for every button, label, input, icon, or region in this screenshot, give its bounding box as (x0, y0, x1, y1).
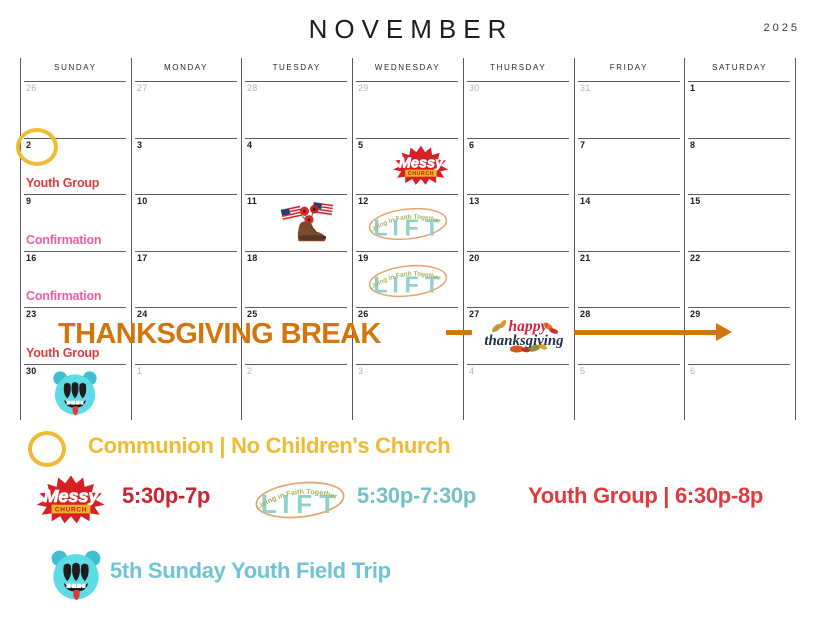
calendar-day-cell[interactable]: 1 (131, 364, 242, 421)
day-cell-divider (356, 194, 458, 195)
lift-logo-icon: LI FT Living in Faith Together (364, 261, 452, 301)
grid-line-vertical (795, 58, 796, 420)
day-number: 21 (580, 253, 591, 263)
day-number: 18 (247, 253, 258, 263)
day-cell-divider (578, 81, 680, 82)
day-cell-divider (24, 251, 126, 252)
day-cell-divider (135, 307, 237, 308)
calendar-day-cell[interactable]: 27 (131, 81, 242, 138)
day-cell-divider (578, 138, 680, 139)
day-number: 26 (26, 83, 37, 93)
day-cell-divider (135, 364, 237, 365)
day-cell-divider (688, 81, 790, 82)
calendar-day-cell[interactable]: 20 (463, 251, 574, 308)
day-number: 1 (690, 83, 695, 93)
day-cell-divider (24, 194, 126, 195)
day-cell-divider (245, 251, 347, 252)
day-cell-divider (688, 364, 790, 365)
calendar-grid: SUNDAYMONDAYTUESDAYWEDNESDAYTHURSDAYFRID… (20, 58, 795, 420)
calendar-day-cell[interactable]: 18 (241, 251, 352, 308)
day-cell-divider (245, 364, 347, 365)
day-number: 1 (137, 366, 142, 376)
youth-mascot-logo (50, 369, 100, 422)
legend-messy-church-time: 5:30p-7p (122, 483, 210, 509)
day-of-week-monday: MONDAY (131, 58, 242, 81)
day-cell-divider (24, 364, 126, 365)
calendar-day-cell[interactable]: 13 (463, 194, 574, 251)
day-number: 23 (26, 309, 37, 319)
day-cell-divider (135, 138, 237, 139)
day-cell-divider (24, 307, 126, 308)
day-cell-divider (135, 81, 237, 82)
thanksgiving-break-banner: THANKSGIVING BREAK (58, 318, 381, 351)
event-label[interactable]: Confirmation (26, 233, 101, 247)
calendar-day-cell[interactable]: 4 (241, 138, 352, 195)
day-cell-divider (688, 194, 790, 195)
lift-logo-icon: LI FT Living in Faith Together (364, 204, 452, 244)
calendar-day-cell[interactable]: 30 (463, 81, 574, 138)
legend-lift-logo: LI FT Living in Faith Together (250, 477, 350, 528)
calendar-day-cell[interactable]: 22 (684, 251, 795, 308)
day-number: 28 (580, 309, 591, 319)
calendar-day-cell[interactable]: 6 (684, 364, 795, 421)
day-cell-divider (245, 81, 347, 82)
day-number: 31 (580, 83, 591, 93)
year-label: 2025 (764, 22, 800, 34)
calendar-day-cell[interactable]: 10 (131, 194, 242, 251)
day-number: 8 (690, 140, 695, 150)
calendar-day-cell[interactable]: 7 (574, 138, 685, 195)
day-cell-divider (245, 194, 347, 195)
day-cell-divider (467, 251, 569, 252)
calendar-day-cell[interactable]: 9Confirmation (20, 194, 131, 251)
day-number: 13 (469, 196, 480, 206)
day-number: 27 (469, 309, 480, 319)
day-cell-divider (356, 364, 458, 365)
legend-lift-time: 5:30p-7:30p (357, 483, 476, 509)
svg-text:Messy: Messy (44, 486, 100, 506)
day-number: 30 (26, 366, 37, 376)
day-cell-divider (467, 307, 569, 308)
legend-youth-mascot (48, 548, 104, 607)
day-number: 2 (247, 366, 252, 376)
day-number: 15 (690, 196, 701, 206)
day-number: 22 (690, 253, 701, 263)
legend-communion-label: Communion | No Children's Church (88, 433, 450, 459)
calendar-day-cell[interactable]: 21 (574, 251, 685, 308)
calendar-day-cell[interactable]: 2 (241, 364, 352, 421)
day-of-week-sunday: SUNDAY (20, 58, 131, 81)
day-cell-divider (356, 307, 458, 308)
day-cell-divider (356, 138, 458, 139)
day-number: 20 (469, 253, 480, 263)
day-number: 5 (358, 140, 363, 150)
day-number: 6 (690, 366, 695, 376)
highlight-circle-day-2 (16, 128, 58, 166)
youth-mascot-icon (50, 369, 100, 417)
svg-text:thanksgiving: thanksgiving (484, 333, 564, 349)
day-of-week-friday: FRIDAY (574, 58, 685, 81)
day-number: 30 (469, 83, 480, 93)
calendar-day-cell[interactable]: 12 LI FT Living in Faith Together (352, 194, 463, 251)
day-cell-divider (578, 307, 680, 308)
youth-mascot-icon (48, 548, 104, 602)
calendar-day-cell[interactable]: 19 LI FT Living in Faith Together (352, 251, 463, 308)
day-of-week-saturday: SATURDAY (684, 58, 795, 81)
day-number: 28 (247, 83, 258, 93)
day-number: 29 (690, 309, 701, 319)
calendar-day-cell[interactable]: 3 (352, 364, 463, 421)
calendar-day-cell[interactable]: 5 (574, 364, 685, 421)
day-cell-divider (135, 194, 237, 195)
legend-messy-church-logo: Messy CHURCH (28, 472, 114, 531)
calendar-day-cell[interactable]: 17 (131, 251, 242, 308)
calendar-day-cell[interactable]: 31 (574, 81, 685, 138)
calendar-day-cell[interactable]: 1 (684, 81, 795, 138)
veterans-day-boot (279, 199, 339, 248)
day-cell-divider (24, 81, 126, 82)
thanksgiving-arrow-segment-right (574, 330, 722, 335)
day-of-week-tuesday: TUESDAY (241, 58, 352, 81)
day-number: 7 (580, 140, 585, 150)
event-label[interactable]: Youth Group (26, 176, 99, 190)
calendar-day-cell[interactable]: 11 (241, 194, 352, 251)
day-number: 9 (26, 196, 31, 206)
calendar-day-cell[interactable]: 16Confirmation (20, 251, 131, 308)
calendar-day-cell[interactable]: 4 (463, 364, 574, 421)
event-label[interactable]: Confirmation (26, 289, 101, 303)
day-number: 11 (247, 196, 257, 206)
thanksgiving-arrow-segment-left (446, 330, 472, 335)
calendar-day-cell[interactable]: 28 (574, 307, 685, 364)
day-number: 4 (469, 366, 474, 376)
day-number: 14 (580, 196, 591, 206)
day-cell-divider (578, 194, 680, 195)
day-of-week-header-row: SUNDAYMONDAYTUESDAYWEDNESDAYTHURSDAYFRID… (20, 58, 795, 81)
day-cell-divider (356, 251, 458, 252)
day-number: 4 (247, 140, 252, 150)
day-number: 5 (580, 366, 585, 376)
calendar-day-cell[interactable]: 14 (574, 194, 685, 251)
day-number: 3 (137, 140, 142, 150)
day-cell-divider (578, 364, 680, 365)
messy-church-logo-icon: Messy CHURCH (386, 143, 456, 187)
day-number: 3 (358, 366, 363, 376)
thanksgiving-arrow-head-icon (716, 323, 732, 341)
calendar-day-cell[interactable]: 29 (684, 307, 795, 364)
calendar-day-cell[interactable]: 3 (131, 138, 242, 195)
day-number: 17 (137, 253, 148, 263)
svg-text:Messy: Messy (399, 155, 444, 171)
day-cell-divider (578, 251, 680, 252)
svg-text:CHURCH: CHURCH (408, 171, 434, 177)
day-cell-divider (467, 364, 569, 365)
happy-thanksgiving-logo-icon: happy thanksgiving (481, 314, 567, 356)
legend-field-trip-label: 5th Sunday Youth Field Trip (110, 558, 391, 584)
page-title: NOVEMBER (0, 14, 822, 45)
calendar-day-cell[interactable]: 28 (241, 81, 352, 138)
messy-church-logo-icon: Messy CHURCH (28, 472, 114, 526)
day-number: 16 (26, 253, 37, 263)
lift-logo: LI FT Living in Faith Together (364, 261, 452, 306)
day-cell-divider (467, 81, 569, 82)
day-cell-divider (688, 251, 790, 252)
legend-youth-group-label: Youth Group | 6:30p-8p (528, 483, 763, 509)
day-cell-divider (467, 194, 569, 195)
lift-logo-icon: LI FT Living in Faith Together (250, 477, 350, 523)
calendar-day-cell[interactable]: 6 (463, 138, 574, 195)
calendar-day-cell[interactable]: 30 (20, 364, 131, 421)
day-number: 27 (137, 83, 148, 93)
happy-thanksgiving-logo: happy thanksgiving (481, 314, 567, 361)
lift-logo: LI FT Living in Faith Together (364, 204, 452, 249)
day-cell-divider (688, 138, 790, 139)
calendar-header: NOVEMBER 2025 (0, 0, 822, 52)
day-of-week-wednesday: WEDNESDAY (352, 58, 463, 81)
day-of-week-thursday: THURSDAY (463, 58, 574, 81)
day-number: 29 (358, 83, 369, 93)
veterans-day-boot-icon (279, 199, 339, 243)
day-cell-divider (135, 251, 237, 252)
day-cell-divider (467, 138, 569, 139)
svg-text:CHURCH: CHURCH (55, 507, 87, 514)
calendar-day-cell[interactable]: 8 (684, 138, 795, 195)
messy-church-logo: Messy CHURCH (386, 143, 456, 192)
calendar-day-cell[interactable]: 27 happy thanksgiving (463, 307, 574, 364)
calendar-day-cell[interactable]: 5 Messy CHURCH (352, 138, 463, 195)
calendar-day-cell[interactable]: 29 (352, 81, 463, 138)
day-cell-divider (245, 307, 347, 308)
day-cell-divider (688, 307, 790, 308)
day-cell-divider (245, 138, 347, 139)
calendar-day-cell[interactable]: 15 (684, 194, 795, 251)
communion-circle-icon (28, 431, 66, 467)
day-number: 6 (469, 140, 474, 150)
day-number: 10 (137, 196, 148, 206)
day-cell-divider (356, 81, 458, 82)
